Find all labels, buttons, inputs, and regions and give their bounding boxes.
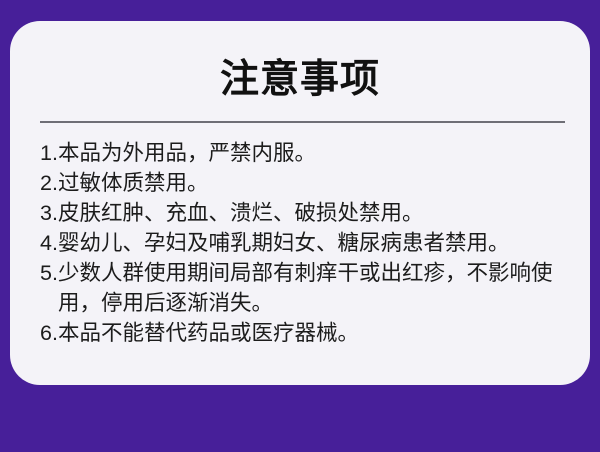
- page-title: 注意事项: [10, 60, 590, 99]
- list-item-text: 本品不能替代药品或医疗器械。: [58, 318, 568, 348]
- list-item-text: 过敏体质禁用。: [58, 168, 568, 198]
- list-item: 3. 皮肤红肿、充血、溃烂、破损处禁用。: [40, 198, 568, 228]
- list-item-text: 婴幼儿、孕妇及哺乳期妇女、糖尿病患者禁用。: [58, 228, 568, 258]
- list-item-index: 3.: [40, 198, 58, 228]
- list-item-index: 5.: [40, 258, 58, 288]
- list-item-index: 4.: [40, 228, 58, 258]
- poster-background: 注意事项 1. 本品为外用品，严禁内服。 2. 过敏体质禁用。 3. 皮肤红肿、…: [0, 0, 600, 452]
- list-item-index: 6.: [40, 318, 58, 348]
- title-divider: [40, 121, 565, 123]
- list-item-text: 皮肤红肿、充血、溃烂、破损处禁用。: [58, 198, 568, 228]
- notice-card: 注意事项 1. 本品为外用品，严禁内服。 2. 过敏体质禁用。 3. 皮肤红肿、…: [10, 21, 590, 385]
- list-item-index: 1.: [40, 138, 58, 168]
- list-item-text: 少数人群使用期间局部有刺痒干或出红疹，不影响使用，停用后逐渐消失。: [58, 258, 568, 318]
- list-item: 5. 少数人群使用期间局部有刺痒干或出红疹，不影响使用，停用后逐渐消失。: [40, 258, 568, 318]
- notice-list: 1. 本品为外用品，严禁内服。 2. 过敏体质禁用。 3. 皮肤红肿、充血、溃烂…: [40, 138, 568, 348]
- list-item: 4. 婴幼儿、孕妇及哺乳期妇女、糖尿病患者禁用。: [40, 228, 568, 258]
- list-item-text: 本品为外用品，严禁内服。: [58, 138, 568, 168]
- list-item: 1. 本品为外用品，严禁内服。: [40, 138, 568, 168]
- list-item: 2. 过敏体质禁用。: [40, 168, 568, 198]
- list-item-index: 2.: [40, 168, 58, 198]
- list-item: 6. 本品不能替代药品或医疗器械。: [40, 318, 568, 348]
